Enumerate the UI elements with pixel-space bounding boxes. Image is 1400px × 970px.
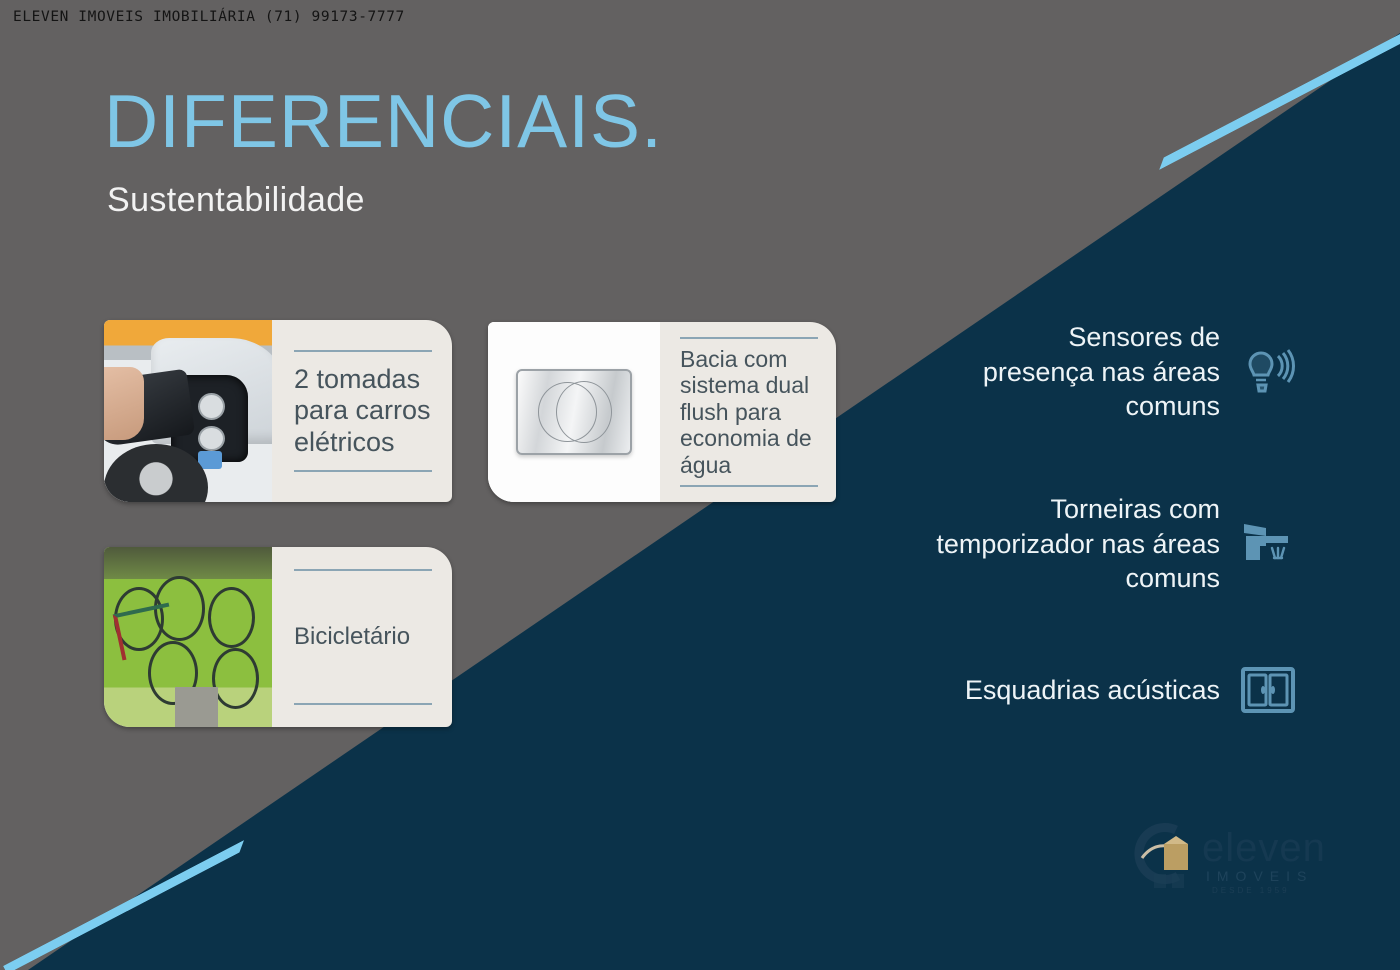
- logo-wordmark: eleven: [1202, 826, 1326, 871]
- divider-bottom: [294, 703, 432, 705]
- card-body: Bicicletário: [272, 547, 452, 727]
- feature-card-electric-outlets: 2 tomadas para carros elétricos: [104, 320, 452, 502]
- presentation-slide: ELEVEN IMOVEIS IMOBILIÁRIA (71) 99173-77…: [0, 0, 1400, 970]
- feature-label: Sensores de presença nas áreas comuns: [950, 320, 1220, 424]
- page-subtitle: Sustentabilidade: [107, 181, 365, 220]
- acoustic-window-icon: [1238, 660, 1298, 720]
- company-contact-header: ELEVEN IMOVEIS IMOBILIÁRIA (71) 99173-77…: [13, 9, 405, 25]
- dual-flush-plate-photo: [488, 322, 660, 502]
- page-title: DIFERENCIAIS.: [104, 84, 663, 159]
- card-label: Bacia com sistema dual flush para econom…: [680, 339, 818, 485]
- card-label: 2 tomadas para carros elétricos: [294, 352, 432, 469]
- motion-sensor-bulb-icon: [1238, 342, 1298, 402]
- feature-item-acoustic-windows: Esquadrias acústicas: [880, 660, 1298, 720]
- electric-car-charging-photo: [104, 320, 272, 502]
- logo-tagline: DESDE 1959: [1212, 886, 1290, 895]
- feature-item-presence-sensors: Sensores de presença nas áreas comuns: [950, 320, 1298, 424]
- feature-label: Esquadrias acústicas: [880, 673, 1220, 708]
- faucet-timer-icon: [1238, 514, 1298, 574]
- feature-label: Torneiras com temporizador nas áreas com…: [930, 492, 1220, 596]
- feature-card-bike-storage: Bicicletário: [104, 547, 452, 727]
- divider-bottom: [294, 470, 432, 472]
- bike-storage-photo: [104, 547, 272, 727]
- card-body: 2 tomadas para carros elétricos: [272, 320, 452, 502]
- logo-subtitle: IMOVEIS: [1206, 868, 1313, 884]
- feature-card-dual-flush: Bacia com sistema dual flush para econom…: [488, 322, 836, 502]
- card-label: Bicicletário: [294, 623, 432, 651]
- feature-item-timer-faucets: Torneiras com temporizador nas áreas com…: [930, 492, 1298, 596]
- divider-top: [294, 569, 432, 571]
- divider-bottom: [680, 485, 818, 487]
- eleven-imoveis-logo: eleven IMOVEIS DESDE 1959: [1128, 818, 1338, 898]
- card-body: Bacia com sistema dual flush para econom…: [660, 322, 836, 502]
